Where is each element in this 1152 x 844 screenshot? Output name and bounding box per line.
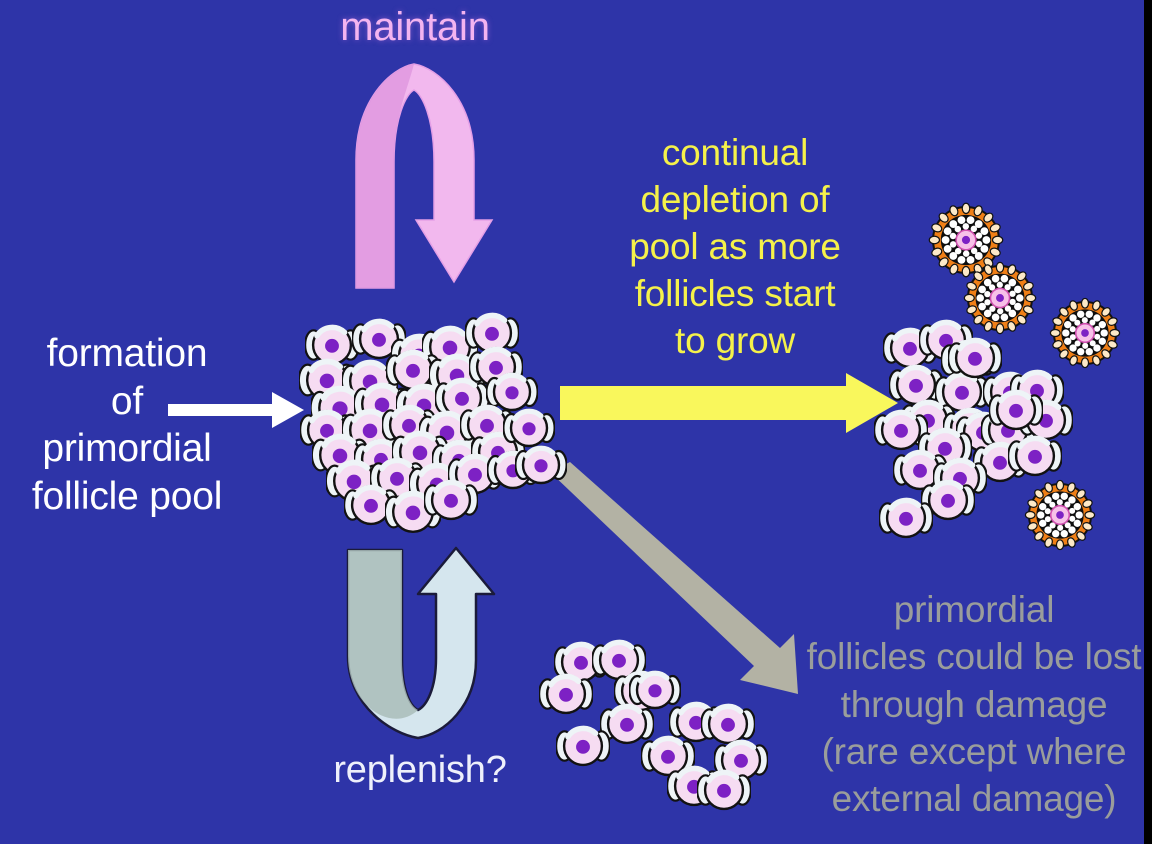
label-depletion: continual depletion of pool as more foll… (590, 130, 880, 365)
label-damage: primordial follicles could be lost throu… (784, 586, 1152, 823)
primordial-follicle (556, 719, 610, 778)
primordial-follicle (629, 664, 681, 721)
primordial-follicle-icon (697, 763, 751, 817)
primordial-follicle-icon (556, 719, 610, 773)
right-edge-strip (1144, 0, 1152, 844)
primordial-follicle (697, 763, 751, 822)
primordial-follicle-icon (629, 664, 681, 716)
diagram-canvas: maintain formation of primordial follicl… (0, 0, 1152, 844)
label-formation: formation of primordial follicle pool (8, 330, 246, 520)
label-maintain: maintain (300, 6, 530, 48)
label-replenish: replenish? (305, 750, 535, 790)
primordial-follicle (539, 667, 593, 726)
primordial-follicle-icon (539, 667, 593, 721)
